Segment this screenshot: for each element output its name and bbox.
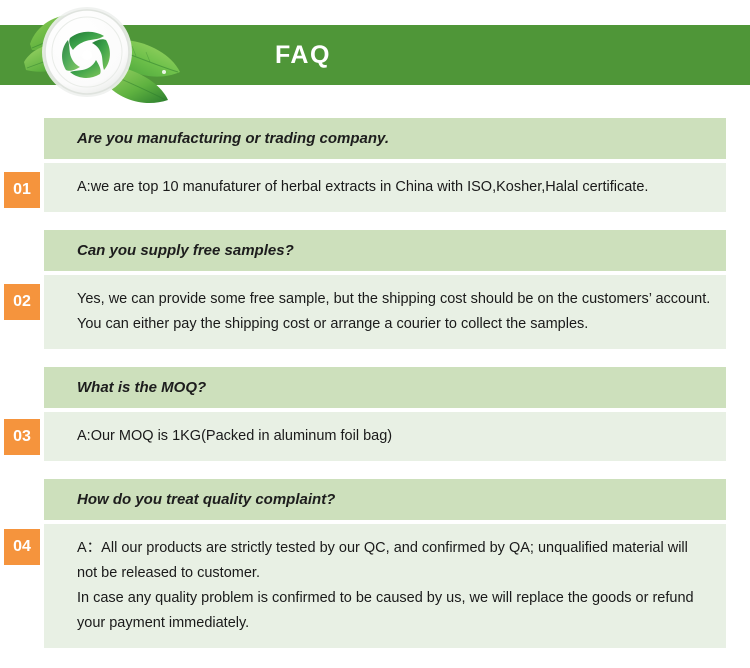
faq-question-bar[interactable]: Are you manufacturing or trading company…: [44, 118, 726, 159]
leaf-recycle-logo: [18, 0, 218, 112]
faq-answer-panel: A:we are top 10 manufaturer of herbal ex…: [44, 163, 726, 212]
faq-number-badge: 02: [4, 284, 40, 320]
faq-answer-panel: A：All our products are strictly tested b…: [44, 524, 726, 648]
faq-question-text: Can you supply free samples?: [44, 241, 308, 261]
faq-number-badge: 04: [4, 529, 40, 565]
faq-answer-line: In case any quality problem is confirmed…: [77, 586, 712, 636]
faq-number-badge: 03: [4, 419, 40, 455]
faq-item: 03 What is the MOQ? A:Our MOQ is 1KG(Pac…: [0, 367, 750, 461]
faq-item: 01 Are you manufacturing or trading comp…: [0, 118, 750, 212]
faq-number-badge: 01: [4, 172, 40, 208]
faq-answer-panel: Yes, we can provide some free sample, bu…: [44, 275, 726, 349]
faq-question-text: Are you manufacturing or trading company…: [44, 129, 403, 149]
faq-question-text: How do you treat quality complaint?: [44, 490, 349, 510]
faq-question-bar[interactable]: What is the MOQ?: [44, 367, 726, 408]
faq-list: 01 Are you manufacturing or trading comp…: [0, 118, 750, 666]
faq-question-bar[interactable]: How do you treat quality complaint?: [44, 479, 726, 520]
faq-answer-line: A:Our MOQ is 1KG(Packed in aluminum foil…: [77, 424, 712, 449]
faq-answer-line: A:we are top 10 manufaturer of herbal ex…: [77, 175, 712, 200]
faq-item: 04 How do you treat quality complaint? A…: [0, 479, 750, 648]
faq-question-text: What is the MOQ?: [44, 378, 220, 398]
faq-item: 02 Can you supply free samples? Yes, we …: [0, 230, 750, 349]
faq-question-bar[interactable]: Can you supply free samples?: [44, 230, 726, 271]
faq-answer-panel: A:Our MOQ is 1KG(Packed in aluminum foil…: [44, 412, 726, 461]
page-title: FAQ: [275, 25, 331, 85]
faq-answer-line: Yes, we can provide some free sample, bu…: [77, 287, 712, 337]
faq-answer-line: A：All our products are strictly tested b…: [77, 536, 712, 586]
page-header: FAQ: [0, 0, 750, 118]
